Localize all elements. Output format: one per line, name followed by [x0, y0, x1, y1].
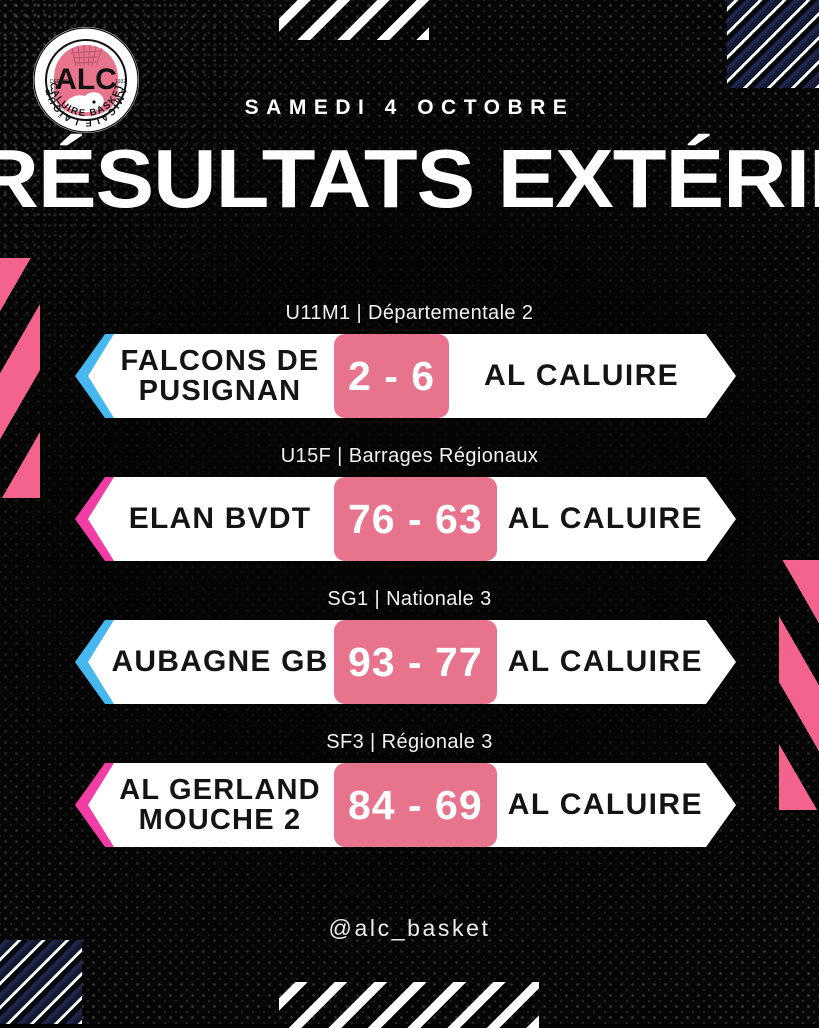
match-competition-label: SG1 | Nationale 3 — [0, 581, 819, 617]
match-pill[interactable]: FALCONS DE PUSIGNAN2 - 6AL CALUIRE — [88, 334, 736, 418]
match-result-row: SG1 | Nationale 3AUBAGNE GB93 - 77AL CAL… — [0, 581, 819, 724]
score-badge: 84 - 69 — [334, 763, 497, 847]
away-team-name: AL CALUIRE — [497, 788, 736, 822]
page-title: RÉSULTATS EXTÉRIEUR — [0, 137, 819, 222]
event-date: SAMEDI 4 OCTOBRE — [0, 96, 819, 120]
home-team-name: FALCONS DE PUSIGNAN — [88, 346, 334, 406]
match-pill[interactable]: ELAN BVDT76 - 63AL CALUIRE — [88, 477, 736, 561]
match-result-row: SF3 | Régionale 3AL GERLAND MOUCHE 284 -… — [0, 724, 819, 867]
match-scoreline: AL GERLAND MOUCHE 284 - 69AL CALUIRE — [0, 763, 819, 847]
score-badge: 2 - 6 — [334, 334, 449, 418]
home-team-name: AUBAGNE GB — [88, 647, 334, 677]
home-team-name: AL GERLAND MOUCHE 2 — [88, 775, 334, 835]
match-competition-label: U15F | Barrages Régionaux — [0, 438, 819, 474]
score-badge: 93 - 77 — [334, 620, 497, 704]
match-pill[interactable]: AUBAGNE GB93 - 77AL CALUIRE — [88, 620, 736, 704]
match-competition-label: SF3 | Régionale 3 — [0, 724, 819, 760]
crest-right-year: 1932 — [115, 79, 126, 85]
score-badge: 76 - 63 — [334, 477, 497, 561]
social-handle: @alc_basket — [0, 915, 819, 942]
match-scoreline: ELAN BVDT76 - 63AL CALUIRE — [0, 477, 819, 561]
away-team-name: AL CALUIRE — [497, 502, 736, 536]
home-team-name: ELAN BVDT — [88, 504, 334, 534]
match-results-list: U11M1 | Départementale 2FALCONS DE PUSIG… — [0, 295, 819, 867]
match-competition-label: U11M1 | Départementale 2 — [0, 295, 819, 331]
crest-left-year: DEPUIS — [50, 79, 69, 85]
match-scoreline: AUBAGNE GB93 - 77AL CALUIRE — [0, 620, 819, 704]
away-team-name: AL CALUIRE — [497, 645, 736, 679]
match-result-row: U15F | Barrages RégionauxELAN BVDT76 - 6… — [0, 438, 819, 581]
match-pill[interactable]: AL GERLAND MOUCHE 284 - 69AL CALUIRE — [88, 763, 736, 847]
match-scoreline: FALCONS DE PUSIGNAN2 - 6AL CALUIRE — [0, 334, 819, 418]
away-team-name: AL CALUIRE — [449, 359, 736, 393]
match-result-row: U11M1 | Départementale 2FALCONS DE PUSIG… — [0, 295, 819, 438]
